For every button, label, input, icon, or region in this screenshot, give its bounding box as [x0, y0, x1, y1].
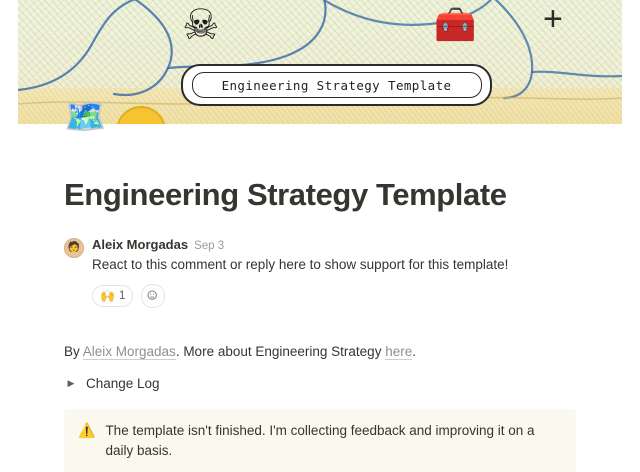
skull-and-crossbones-icon: ☠ [182, 4, 220, 46]
avatar[interactable]: 🧑 [64, 238, 84, 258]
comment-author[interactable]: Aleix Morgadas [92, 237, 188, 252]
treasure-chest-icon: 🧰 [434, 8, 476, 42]
reaction-pill[interactable]: 🙌 1 [92, 285, 133, 307]
comment-date: Sep 3 [194, 240, 224, 252]
comment-text: React to this comment or reply here to s… [92, 255, 576, 275]
chevron-right-icon[interactable]: ▶ [64, 378, 78, 389]
comment-header: Aleix Morgadas Sep 3 [92, 237, 576, 252]
toggle-label: Change Log [86, 376, 160, 391]
callout-block: ⚠️ The template isn't finished. I'm coll… [64, 409, 576, 472]
raising-hands-icon: 🙌 [100, 289, 115, 303]
page-title[interactable]: Engineering Strategy Template [64, 176, 576, 213]
warning-icon: ⚠️ [78, 421, 95, 441]
byline-suffix: . [412, 344, 416, 359]
plus-icon: + [543, 2, 563, 36]
author-link[interactable]: Aleix Morgadas [83, 344, 176, 360]
byline-paragraph: By Aleix Morgadas. More about Engineerin… [64, 342, 576, 362]
here-link[interactable]: here [385, 344, 412, 360]
page-body: Engineering Strategy Template 🧑 Aleix Mo… [0, 176, 640, 472]
add-reaction-icon[interactable] [141, 284, 165, 308]
byline-prefix: By [64, 344, 83, 359]
cover-title-bubble: Engineering Strategy Template [181, 64, 492, 106]
page-cover[interactable]: ☠ 🧰 + Engineering Strategy Template 🗺️ [0, 0, 640, 140]
add-reaction-glyph [147, 290, 159, 302]
cover-title-text: Engineering Strategy Template [192, 72, 482, 98]
comment-block: 🧑 Aleix Morgadas Sep 3 React to this com… [64, 237, 576, 308]
byline-middle: . More about [176, 344, 256, 359]
comment-actions: 🙌 1 [92, 284, 576, 308]
comment-main: Aleix Morgadas Sep 3 React to this comme… [92, 237, 576, 308]
callout-text: The template isn't finished. I'm collect… [105, 421, 562, 460]
page-icon-map-emoji[interactable]: 🗺️ [64, 100, 106, 134]
toggle-change-log[interactable]: ▶ Change Log [64, 376, 576, 391]
reaction-count: 1 [119, 290, 125, 302]
topic-text: Engineering Strategy [255, 344, 381, 359]
